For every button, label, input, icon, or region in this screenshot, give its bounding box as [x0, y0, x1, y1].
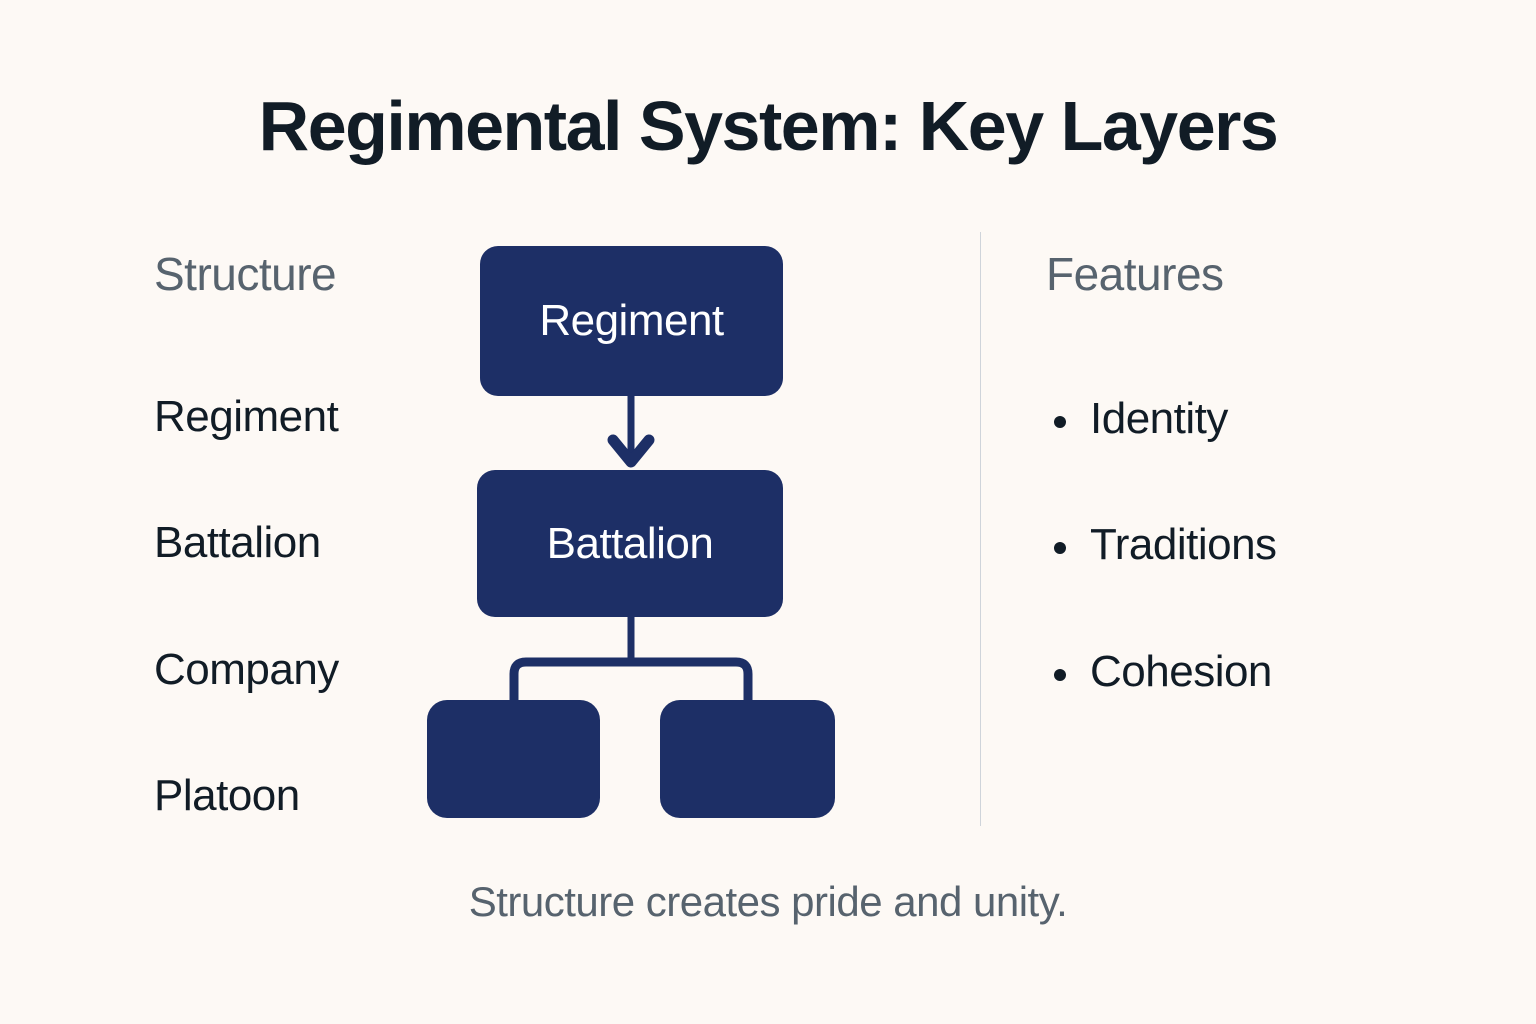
- bullet-dot-icon: [1054, 416, 1066, 428]
- bullet-dot-icon: [1054, 669, 1066, 681]
- page-title: Regimental System: Key Layers: [0, 88, 1536, 165]
- list-item-label: Cohesion: [1090, 647, 1272, 696]
- features-column-heading: Features: [1046, 248, 1466, 301]
- features-column: Features Identity Traditions Cohesion: [1046, 248, 1466, 696]
- list-item: Battalion: [154, 519, 454, 567]
- diagram-node-child-left[interactable]: [427, 700, 600, 818]
- list-item: Regiment: [154, 393, 454, 441]
- list-item-label: Identity: [1090, 394, 1228, 443]
- vertical-divider: [980, 232, 981, 826]
- caption: Structure creates pride and unity.: [0, 878, 1536, 926]
- diagram-node-regiment[interactable]: Regiment: [480, 246, 783, 396]
- list-item-label: Traditions: [1090, 520, 1277, 569]
- list-item: Platoon: [154, 772, 454, 820]
- diagram-node-child-right[interactable]: [660, 700, 835, 818]
- structure-list: Regiment Battalion Company Platoon: [154, 393, 454, 821]
- features-list: Identity Traditions Cohesion: [1046, 395, 1466, 696]
- structure-column-heading: Structure: [154, 248, 454, 301]
- bullet-dot-icon: [1054, 542, 1066, 554]
- list-item: Traditions: [1046, 521, 1466, 569]
- diagram-node-battalion[interactable]: Battalion: [477, 470, 783, 617]
- list-item: Identity: [1046, 395, 1466, 443]
- hierarchy-diagram: Regiment Battalion: [410, 230, 860, 830]
- structure-column: Structure Regiment Battalion Company Pla…: [154, 248, 454, 820]
- slide-canvas: Regimental System: Key Layers Structure …: [0, 0, 1536, 1024]
- list-item: Company: [154, 646, 454, 694]
- list-item: Cohesion: [1046, 648, 1466, 696]
